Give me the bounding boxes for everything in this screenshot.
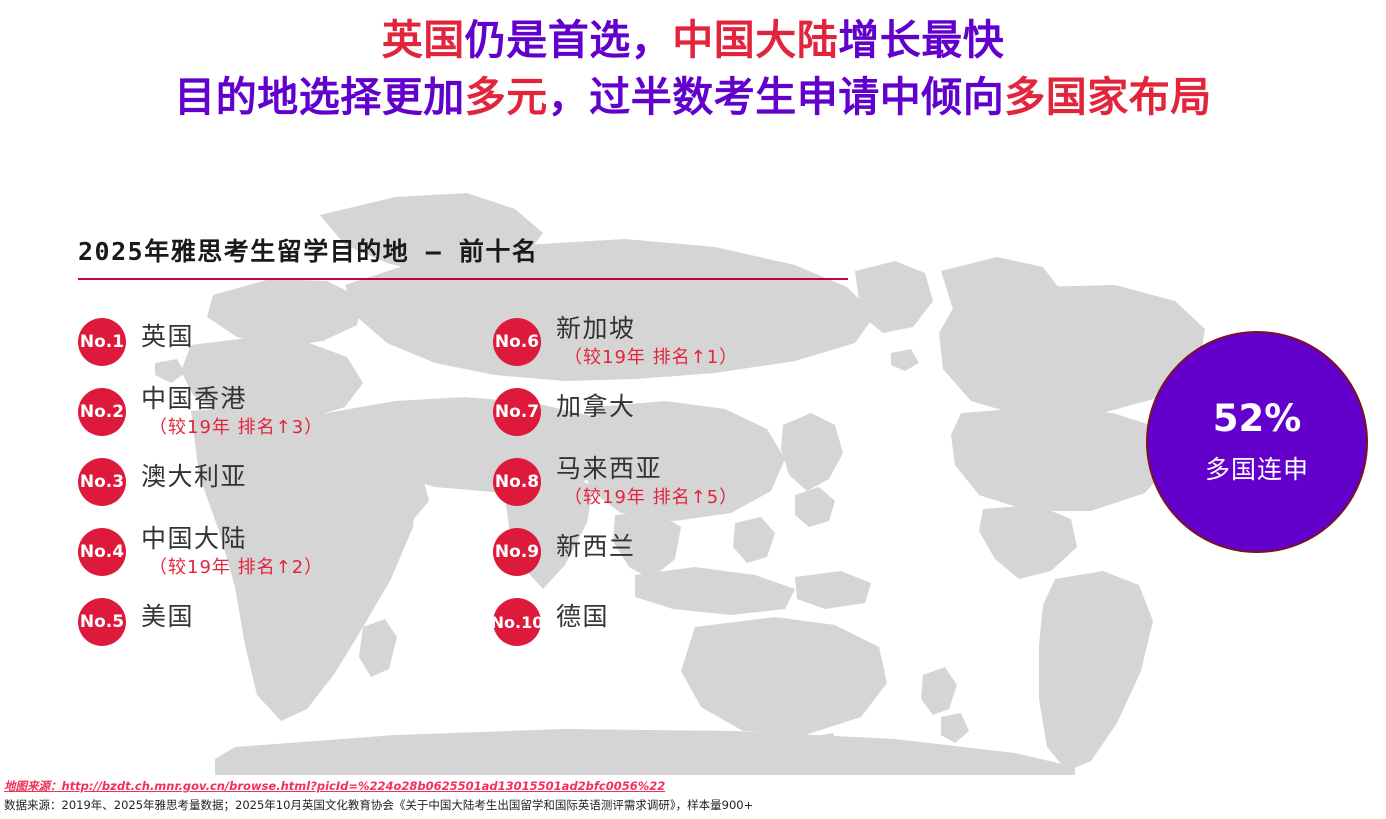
list-item[interactable]: No.2 中国香港 （较19年 排名↑3） — [78, 382, 493, 452]
headline-2-seg-1: 目的地选择更加 — [174, 73, 465, 121]
rank-text: 美国 — [141, 600, 194, 634]
rank-change-note: （较19年 排名↑1） — [564, 346, 738, 370]
destination-name: 新加坡 — [556, 312, 738, 346]
headline-2-seg-2: 多元 — [465, 73, 548, 121]
list-item[interactable]: No.1 英国 — [78, 312, 493, 382]
headline-1-seg-3: 中国大陆 — [672, 16, 838, 64]
headline-block: 英国仍是首选，中国大陆增长最快 目的地选择更加多元，过半数考生申请中倾向多国家布… — [0, 12, 1386, 126]
destination-name: 新西兰 — [556, 530, 636, 564]
list-item[interactable]: No.7 加拿大 — [493, 382, 908, 452]
destination-name: 美国 — [141, 600, 194, 634]
rank-badge: No.4 — [78, 528, 126, 576]
ranking-column-right: No.6 新加坡 （较19年 排名↑1） No.7 加拿大 No.8 马来西亚 … — [493, 312, 908, 662]
list-item[interactable]: No.6 新加坡 （较19年 排名↑1） — [493, 312, 908, 382]
data-source-note: 数据来源：2019年、2025年雅思考量数据；2025年10月英国文化教育协会《… — [4, 795, 753, 815]
rank-badge: No.2 — [78, 388, 126, 436]
list-item[interactable]: No.10 德国 — [493, 592, 908, 662]
rank-change-note: （较19年 排名↑3） — [149, 416, 323, 440]
destination-name: 澳大利亚 — [141, 460, 247, 494]
destination-name: 中国香港 — [141, 382, 323, 416]
panel-title: 2025年雅思考生留学目的地 – 前十名 — [78, 232, 868, 268]
rank-badge: No.1 — [78, 318, 126, 366]
headline-2-seg-3: ，过半数考生申请中倾向 — [548, 73, 1005, 121]
destination-name: 英国 — [141, 320, 194, 354]
headline-1-seg-2: 仍是首选， — [465, 16, 673, 64]
headline-line-1: 英国仍是首选，中国大陆增长最快 — [0, 12, 1386, 68]
list-item[interactable]: No.8 马来西亚 （较19年 排名↑5） — [493, 452, 908, 522]
headline-2-seg-4: 多国家布局 — [1004, 73, 1212, 121]
rank-text: 中国大陆 （较19年 排名↑2） — [141, 522, 323, 580]
rank-text: 德国 — [556, 600, 609, 634]
destination-name: 加拿大 — [556, 390, 636, 424]
ranking-panel-header: 2025年雅思考生留学目的地 – 前十名 — [78, 232, 868, 280]
destination-name: 中国大陆 — [141, 522, 323, 556]
stat-circle: 52% 多国连申 — [1146, 331, 1368, 553]
footnotes: 地图来源：http://bzdt.ch.mnr.gov.cn/browse.ht… — [4, 777, 753, 815]
rank-badge: No.5 — [78, 598, 126, 646]
map-source-link[interactable]: 地图来源：http://bzdt.ch.mnr.gov.cn/browse.ht… — [4, 777, 753, 795]
list-item[interactable]: No.3 澳大利亚 — [78, 452, 493, 522]
rank-badge: No.9 — [493, 528, 541, 576]
stat-label: 多国连申 — [1205, 453, 1309, 487]
headline-1-seg-4: 增长最快 — [838, 16, 1004, 64]
rank-badge: No.3 — [78, 458, 126, 506]
destination-name: 马来西亚 — [556, 452, 738, 486]
rank-badge: No.7 — [493, 388, 541, 436]
rank-text: 马来西亚 （较19年 排名↑5） — [556, 452, 738, 510]
rank-badge: No.8 — [493, 458, 541, 506]
headline-1-seg-1: 英国 — [382, 16, 465, 64]
headline-line-2: 目的地选择更加多元，过半数考生申请中倾向多国家布局 — [0, 68, 1386, 126]
rank-text: 新西兰 — [556, 530, 636, 564]
rank-text: 澳大利亚 — [141, 460, 247, 494]
rank-badge: No.6 — [493, 318, 541, 366]
rank-change-note: （较19年 排名↑5） — [564, 486, 738, 510]
ranking-columns: No.1 英国 No.2 中国香港 （较19年 排名↑3） No.3 澳大利亚 … — [78, 312, 908, 662]
rank-text: 中国香港 （较19年 排名↑3） — [141, 382, 323, 440]
destination-name: 德国 — [556, 600, 609, 634]
rank-badge: No.10 — [493, 598, 541, 646]
panel-divider — [78, 278, 848, 280]
rank-text: 加拿大 — [556, 390, 636, 424]
list-item[interactable]: No.5 美国 — [78, 592, 493, 662]
rank-change-note: （较19年 排名↑2） — [149, 556, 323, 580]
ranking-column-left: No.1 英国 No.2 中国香港 （较19年 排名↑3） No.3 澳大利亚 … — [78, 312, 493, 662]
stat-value: 52% — [1213, 397, 1302, 441]
list-item[interactable]: No.9 新西兰 — [493, 522, 908, 592]
rank-text: 新加坡 （较19年 排名↑1） — [556, 312, 738, 370]
list-item[interactable]: No.4 中国大陆 （较19年 排名↑2） — [78, 522, 493, 592]
rank-text: 英国 — [141, 320, 194, 354]
